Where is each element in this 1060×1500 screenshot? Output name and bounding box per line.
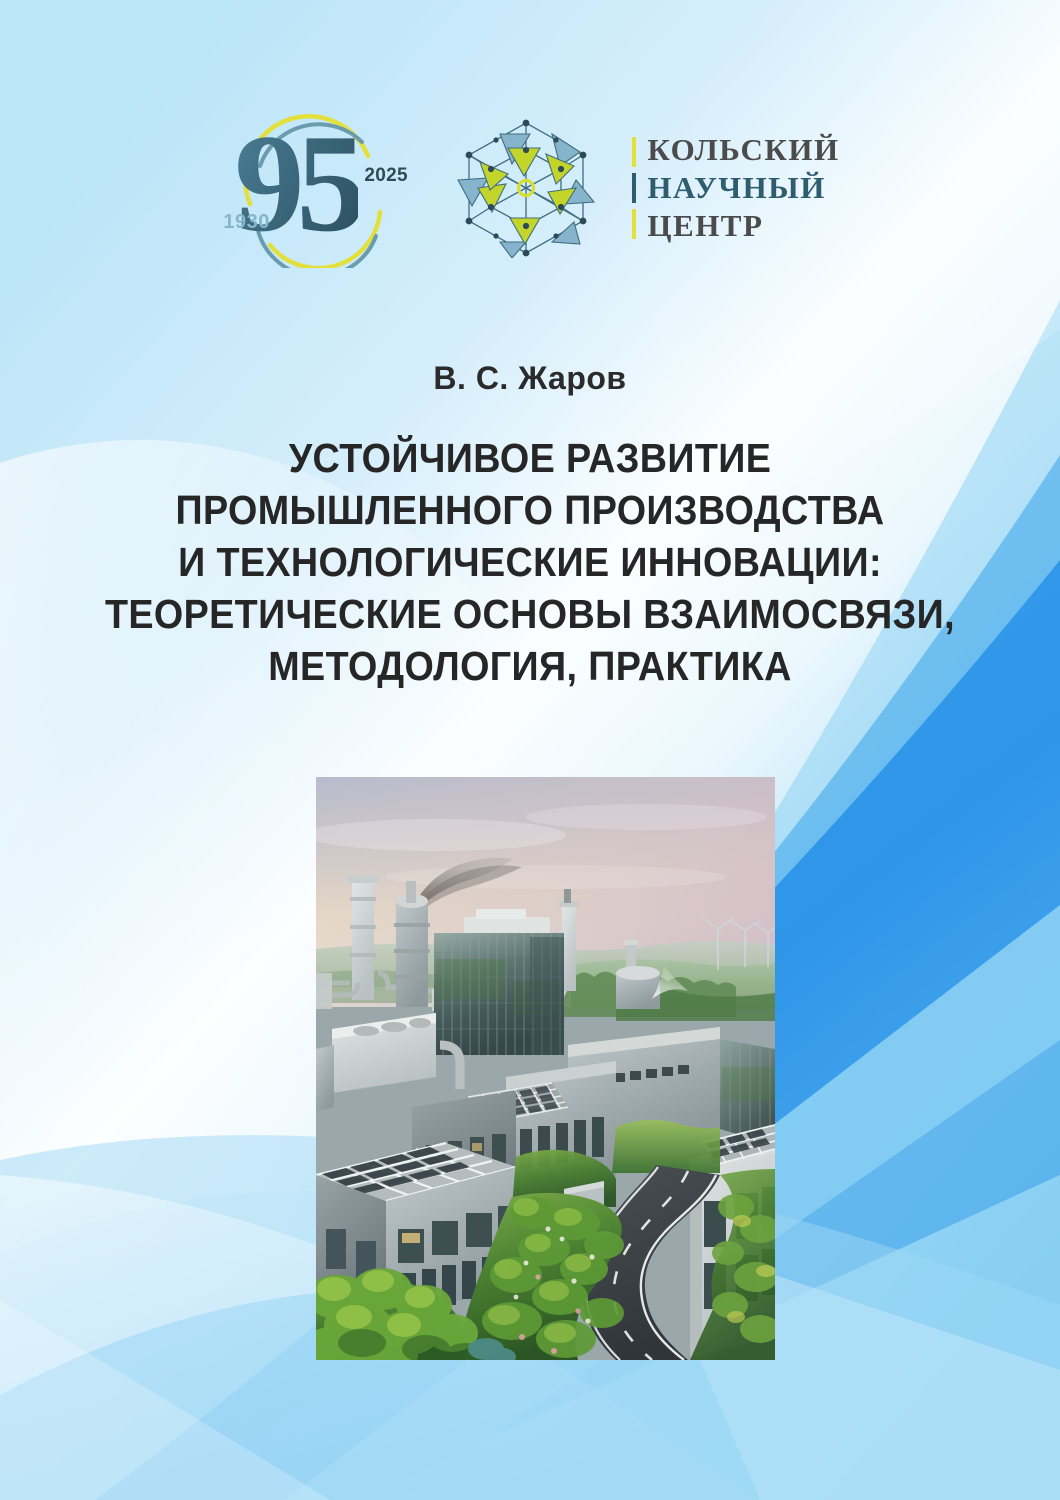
title-line-3: И ТЕХНОЛОГИЧЕСКИЕ ИННОВАЦИИ:: [42, 536, 1017, 588]
title-line-1: УСТОЙЧИВОЕ РАЗВИТИЕ: [42, 432, 1017, 484]
crystal-lattice-hexagon-icon: [456, 118, 596, 258]
wordmark-line-centr: ЦЕНТР: [647, 209, 839, 243]
book-title: УСТОЙЧИВОЕ РАЗВИТИЕ ПРОМЫШЛЕННОГО ПРОИЗВ…: [0, 432, 1060, 692]
photo-artwork: [316, 777, 775, 1360]
title-line-2: ПРОМЫШЛЕННОГО ПРОИЗВОДСТВА: [42, 484, 1017, 536]
title-line-4: ТЕОРЕТИЧЕСКИЕ ОСНОВЫ ВЗАИМОСВЯЗИ,: [42, 588, 1017, 640]
publisher-wordmark: КОЛЬСКИЙ НАУЧНЫЙ ЦЕНТР: [632, 133, 839, 243]
accent-bar-middle: [632, 173, 636, 203]
wordmark-accent-bars: [632, 133, 636, 243]
anniversary-year-to: 2025: [364, 165, 407, 187]
wordmark-line-kolsky: КОЛЬСКИЙ: [647, 133, 839, 167]
anniversary-year-from: 1930: [223, 211, 270, 234]
publisher-logo-row: 95 1930 2025: [0, 108, 1060, 268]
industrial-eco-complex-photo: [316, 777, 775, 1360]
anniversary-95-logo: 95 1930 2025: [220, 108, 420, 268]
title-line-5: МЕТОДОЛОГИЯ, ПРАКТИКА: [42, 640, 1017, 692]
book-cover: 95 1930 2025: [0, 0, 1060, 1500]
author-name: В. С. Жаров: [0, 360, 1060, 397]
wordmark-line-nauchny: НАУЧНЫЙ: [647, 171, 839, 205]
accent-bar-bottom: [632, 209, 636, 239]
accent-bar-top: [632, 137, 636, 167]
